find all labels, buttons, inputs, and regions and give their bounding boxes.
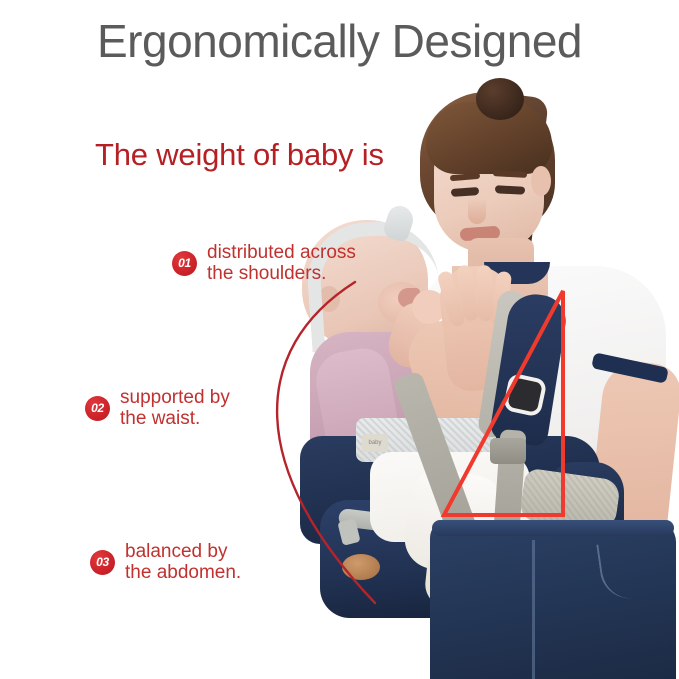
annotation-text-02: supported by the waist.: [120, 387, 230, 429]
annotation-item-03: 03 balanced by the abdomen.: [90, 541, 241, 583]
badge-number-03: 03: [90, 550, 115, 575]
badge-number-02: 02: [85, 396, 110, 421]
infographic-page: baby Ergonomically Designed The weight o…: [0, 0, 679, 679]
annotation-item-02: 02 supported by the waist.: [85, 387, 230, 429]
annotation-text-03: balanced by the abdomen.: [125, 541, 241, 583]
annotation-text-01: distributed across the shoulders.: [207, 242, 356, 284]
curved-arc-line: [277, 282, 375, 603]
badge-number-01: 01: [172, 251, 197, 276]
subtitle: The weight of baby is: [95, 136, 384, 174]
force-triangle: [444, 291, 563, 515]
page-title: Ergonomically Designed: [0, 14, 679, 68]
annotation-item-01: 01 distributed across the shoulders.: [172, 242, 356, 284]
